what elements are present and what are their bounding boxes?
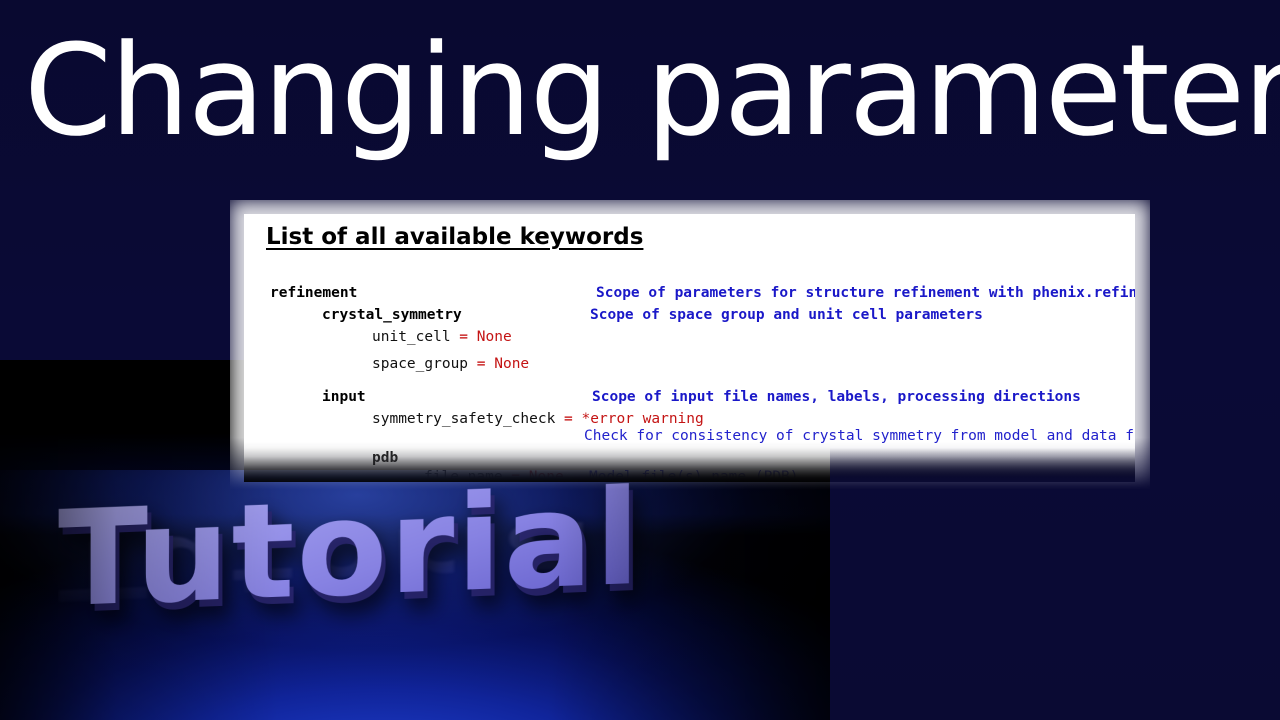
slide-root: Changing parameters Tutorial Tutorial Li… — [0, 0, 1280, 720]
keyword-value: *error warning — [582, 411, 704, 427]
keywords-panel: List of all available keywords refinemen… — [244, 214, 1135, 478]
keyword-equals-sign: = — [503, 469, 529, 478]
keyword-entry: crystal_symmetry — [322, 308, 462, 323]
keyword-entry: unit_cell = None — [372, 330, 512, 345]
keyword-name: symmetry_safety_check — [372, 411, 555, 427]
keyword-value: None — [529, 469, 564, 478]
keyword-entry: symmetry_safety_check = *error warning — [372, 412, 704, 427]
keyword-name: crystal_symmetry — [322, 307, 462, 323]
keyword-entry: space_group = None — [372, 357, 529, 372]
keyword-description: Check for consistency of crystal symmetr… — [584, 429, 1135, 444]
keyword-description: Model file(s) name (PDB) — [589, 470, 799, 478]
keywords-list: refinementScope of parameters for struct… — [244, 270, 1135, 478]
keyword-entry: refinement — [270, 286, 357, 301]
keyword-entry: input — [322, 390, 366, 405]
keyword-equals-sign: = — [451, 329, 477, 345]
keyword-value: None — [477, 329, 512, 345]
keyword-equals-sign: = — [468, 356, 494, 372]
keyword-description: Scope of input file names, labels, proce… — [592, 390, 1081, 405]
keywords-panel-heading: List of all available keywords — [266, 224, 643, 250]
keyword-entry: file_name = None — [424, 470, 564, 478]
keyword-entry: pdb — [372, 451, 398, 466]
page-title: Changing parameters — [24, 28, 1264, 154]
keyword-equals-sign: = — [555, 411, 581, 427]
keyword-name: file_name — [424, 469, 503, 478]
keyword-description: Scope of space group and unit cell param… — [590, 308, 983, 323]
keyword-name: pdb — [372, 450, 398, 466]
keyword-description: Scope of parameters for structure refine… — [596, 286, 1135, 301]
keyword-name: space_group — [372, 356, 468, 372]
keyword-value: None — [494, 356, 529, 372]
keyword-name: input — [322, 389, 366, 405]
keyword-name: unit_cell — [372, 329, 451, 345]
keyword-name: refinement — [270, 285, 357, 301]
